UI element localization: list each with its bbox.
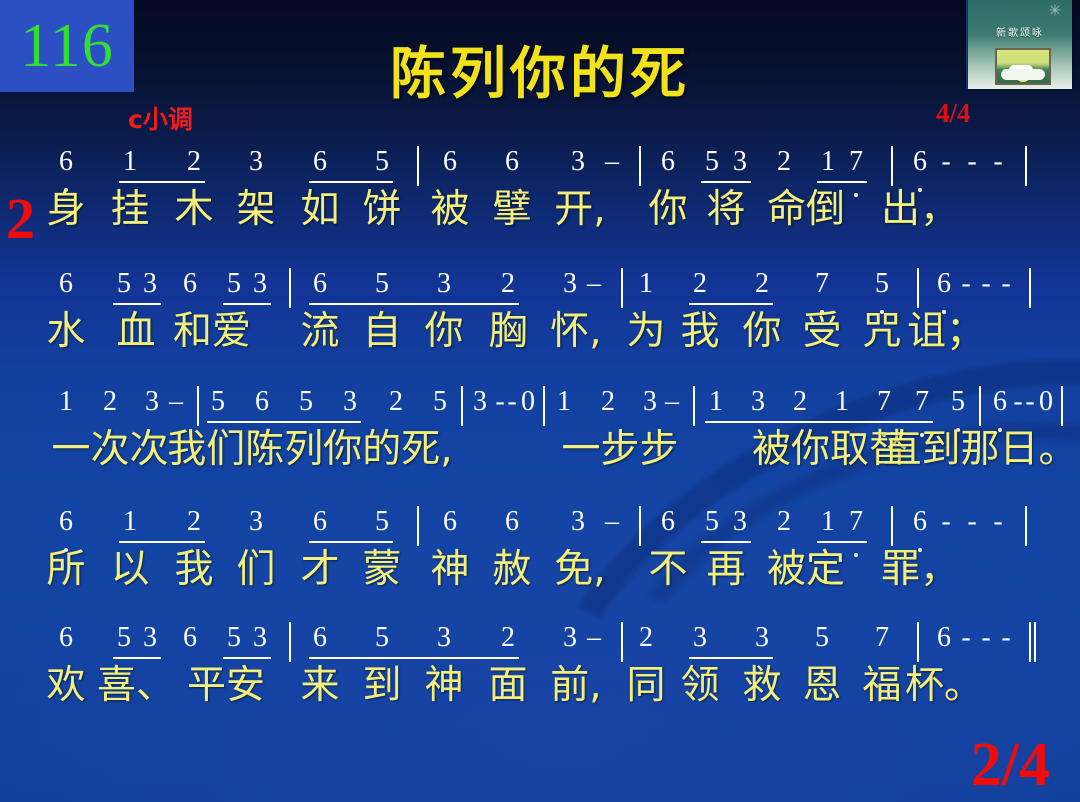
barline (1025, 146, 1027, 186)
lyric-syllable: 神 (430, 550, 469, 589)
note: 1 (557, 388, 571, 416)
lyric-syllable: 怀, (550, 312, 601, 351)
note: 6 (313, 624, 327, 652)
note: 6 (59, 148, 73, 176)
lyric-syllable: 将 (706, 190, 745, 229)
lyric-syllable: 咒 (862, 312, 901, 351)
note: 3 (571, 508, 585, 536)
note: – (587, 624, 601, 652)
lyric-syllable: 再 (706, 550, 745, 589)
note: 3 (563, 624, 577, 652)
note: - (495, 388, 504, 416)
lyric-syllable: 才 (300, 550, 339, 589)
note: 6 (443, 148, 457, 176)
note: 3 (145, 388, 159, 416)
beam-line (689, 303, 773, 305)
note: 2 (601, 388, 615, 416)
lyric-syllable: 自 (362, 312, 401, 351)
lyric-syllable: 神 (424, 666, 463, 705)
barline (891, 506, 893, 546)
note: 1 (59, 388, 73, 416)
beam-line (309, 181, 393, 183)
note: 1 (123, 148, 137, 176)
lyric-syllable: 一步步 (561, 430, 678, 469)
barline (1025, 506, 1027, 546)
beam-line (309, 541, 393, 543)
note: 5 (705, 148, 719, 176)
note: 2 (103, 388, 117, 416)
note: 6 (59, 508, 73, 536)
note: 5 (375, 270, 389, 298)
beam-line (309, 303, 519, 305)
lyric-syllable: 救 (742, 666, 781, 705)
note: 6 (183, 270, 197, 298)
note: - (961, 270, 970, 298)
note: - (507, 388, 516, 416)
note: 5 (299, 388, 313, 416)
lyric-syllable: 血 (116, 312, 155, 351)
hymnbook-cover-thumbnail: 新歌颂咏 (966, 0, 1072, 89)
lyric-syllable: 为 (626, 312, 665, 351)
beam-line (689, 657, 773, 659)
barline (417, 146, 419, 186)
barline (917, 622, 919, 662)
note: 3 (253, 624, 267, 652)
note: - (967, 148, 976, 176)
note: 1 (835, 388, 849, 416)
note: - (961, 624, 970, 652)
sunrise-illustration (995, 48, 1051, 85)
note: 2 (501, 270, 515, 298)
note: 3 (437, 624, 451, 652)
note: 2 (187, 508, 201, 536)
note: 5 (117, 624, 131, 652)
beam-line (223, 657, 271, 659)
note: 5 (433, 388, 447, 416)
note: 6 (255, 388, 269, 416)
note: - (981, 624, 990, 652)
lyric-syllable: 以 (110, 550, 149, 589)
note: - (993, 508, 1002, 536)
note: - (1013, 388, 1022, 416)
barline (543, 386, 545, 426)
note: 6 (59, 624, 73, 652)
note: – (665, 388, 679, 416)
lyric-syllable: 诅； (907, 312, 985, 351)
note: 3 (473, 388, 487, 416)
note: 1 (709, 388, 723, 416)
note: 5 (211, 388, 225, 416)
note: 6 (313, 508, 327, 536)
lyric-syllable: 饼 (362, 190, 401, 229)
note: 5 (227, 624, 241, 652)
note: 5 (375, 148, 389, 176)
barline (891, 146, 893, 186)
beam-line (119, 181, 205, 183)
lyric-syllable: 流 (300, 312, 339, 351)
notation-row: 612365663–6532176--- (0, 508, 1080, 550)
lyric-syllable: 架 (236, 190, 275, 229)
score-system: 65365365323–233576---欢喜、平安来到神面前,同领救恩福杯。 (0, 624, 1080, 666)
lyric-syllable: 们 (236, 550, 275, 589)
lyric-syllable: 和爱 (173, 312, 251, 351)
note: 6 (937, 624, 951, 652)
snowflake-icon (1048, 3, 1062, 17)
notation-row: 123–5653253--0123–13217756--0 (0, 388, 1080, 430)
note: - (941, 508, 950, 536)
note: 7 (875, 624, 889, 652)
note: 2 (793, 388, 807, 416)
note: 6 (661, 508, 675, 536)
octave-dot-low (854, 553, 858, 557)
lyric-syllable: 平安 (187, 666, 265, 705)
note: - (1001, 624, 1010, 652)
note: 7 (815, 270, 829, 298)
note: 5 (815, 624, 829, 652)
lyric-syllable: 赦 (492, 550, 531, 589)
verse-number-marker: 2 (6, 190, 35, 248)
note: 3 (143, 624, 157, 652)
barline (693, 386, 695, 426)
lyric-syllable: 同 (626, 666, 665, 705)
lyric-syllable: 我 (680, 312, 719, 351)
note: 5 (705, 508, 719, 536)
octave-dot-low (854, 193, 858, 197)
lyric-syllable: 所 (46, 550, 85, 589)
note: 3 (249, 148, 263, 176)
lyric-syllable: 面 (488, 666, 527, 705)
lyric-syllable: 不 (648, 550, 687, 589)
beam-line (119, 541, 205, 543)
note: 2 (187, 148, 201, 176)
lyric-syllable: 来 (300, 666, 339, 705)
note: 2 (777, 508, 791, 536)
lyric-syllable: 一次次 (51, 430, 168, 469)
note: 5 (117, 270, 131, 298)
barline (639, 146, 641, 186)
lyric-syllable: 罪， (881, 550, 959, 589)
beam-line (309, 657, 519, 659)
note: 6 (913, 508, 927, 536)
lyric-syllable: 受 (802, 312, 841, 351)
barline (917, 268, 919, 308)
lyric-syllable: 免, (554, 550, 605, 589)
note: 3 (143, 270, 157, 298)
note: 3 (253, 270, 267, 298)
beam-line (701, 181, 751, 183)
lyric-syllable: 被定 (767, 550, 845, 589)
note: – (605, 508, 619, 536)
key-signature-label: c小调 (128, 100, 193, 136)
note: 3 (343, 388, 357, 416)
note: - (1025, 388, 1034, 416)
note: 2 (777, 148, 791, 176)
lyric-syllable: 我们陈列你的死, (167, 430, 452, 469)
page-indicator: 2/4 (971, 734, 1050, 796)
lyric-syllable: 被 (430, 190, 469, 229)
lyric-syllable: 前, (550, 666, 601, 705)
note: 7 (877, 388, 891, 416)
beam-line (113, 303, 161, 305)
note: - (1001, 270, 1010, 298)
note: 6 (505, 148, 519, 176)
note: 3 (733, 148, 747, 176)
lyric-syllable: 你 (424, 312, 463, 351)
notation-row: 65365365323–233576--- (0, 624, 1080, 666)
barline (621, 268, 623, 308)
score-system: 612365663–6532176---身挂木架如饼被擘开,你将命倒出， (0, 148, 1080, 190)
note: 3 (571, 148, 585, 176)
note: 2 (693, 270, 707, 298)
note: 6 (59, 270, 73, 298)
note: 2 (501, 624, 515, 652)
note: 1 (821, 508, 835, 536)
note: 3 (249, 508, 263, 536)
lyric-syllable: 领 (680, 666, 719, 705)
beam-line (817, 181, 867, 183)
notation-row: 65365365323–122756--- (0, 270, 1080, 312)
note: 1 (639, 270, 653, 298)
lyric-syllable: 欢 (46, 666, 85, 705)
note: - (981, 270, 990, 298)
note: 6 (313, 270, 327, 298)
barline (1061, 386, 1063, 426)
beam-line (113, 657, 161, 659)
score-system: 123–5653253--0123–13217756--0一次次我们陈列你的死,… (0, 388, 1080, 430)
note: – (169, 388, 183, 416)
note: 7 (915, 388, 929, 416)
lyric-syllable: 水 (46, 312, 85, 351)
note: 1 (123, 508, 137, 536)
lyric-syllable: 恩 (802, 666, 841, 705)
barline (417, 506, 419, 546)
lyric-syllable: 胸 (488, 312, 527, 351)
note: - (967, 508, 976, 536)
lyric-syllable: 杯。 (905, 666, 983, 705)
barline (197, 386, 199, 426)
note: 3 (755, 624, 769, 652)
barline (1029, 268, 1031, 308)
barline (621, 622, 623, 662)
lyric-syllable: 如 (300, 190, 339, 229)
cloud-icon-front (1001, 69, 1045, 80)
lyric-syllable: 挂 (110, 190, 149, 229)
note: 7 (849, 148, 863, 176)
beam-line (705, 421, 933, 423)
barline (639, 506, 641, 546)
note: 6 (313, 148, 327, 176)
note: 6 (993, 388, 1007, 416)
note: – (605, 148, 619, 176)
time-signature-label: 4/4 (936, 98, 971, 129)
barline (461, 386, 463, 426)
note: 6 (505, 508, 519, 536)
note: 5 (875, 270, 889, 298)
beam-line (207, 421, 361, 423)
beam-line (817, 541, 867, 543)
note: 0 (521, 388, 535, 416)
notation-row: 612365663–6532176--- (0, 148, 1080, 190)
note: - (941, 148, 950, 176)
lyric-syllable: 直到那日。 (882, 430, 1077, 469)
lyric-syllable: 到 (362, 666, 401, 705)
note: - (993, 148, 1002, 176)
lyric-syllable: 福 (862, 666, 901, 705)
note: 6 (661, 148, 675, 176)
note: 6 (913, 148, 927, 176)
score-system: 612365663–6532176---所以我们才蒙神赦免,不再被定罪， (0, 508, 1080, 550)
note: 3 (643, 388, 657, 416)
lyric-syllable: 出， (881, 190, 959, 229)
note: – (587, 270, 601, 298)
hymnbook-cover-title: 新歌颂咏 (968, 24, 1072, 39)
hymn-slide: 116 陈列你的死 c小调 4/4 新歌颂咏 2 612365663–65321… (0, 0, 1080, 802)
beam-line (701, 541, 751, 543)
note: 6 (183, 624, 197, 652)
beam-line (223, 303, 271, 305)
lyric-syllable: 喜、 (97, 666, 175, 705)
note: 6 (937, 270, 951, 298)
note: 3 (733, 508, 747, 536)
barline (979, 386, 981, 426)
lyric-syllable: 擘 (492, 190, 531, 229)
lyric-syllable: 身 (46, 190, 85, 229)
note: 1 (821, 148, 835, 176)
score-system: 65365365323–122756---水血和爱流自你胸怀,为我你受咒诅； (0, 270, 1080, 312)
note: 5 (951, 388, 965, 416)
lyric-syllable: 你 (742, 312, 781, 351)
note: 6 (443, 508, 457, 536)
note: 2 (755, 270, 769, 298)
note: 5 (375, 624, 389, 652)
note: 7 (849, 508, 863, 536)
note: 3 (751, 388, 765, 416)
barline (289, 622, 291, 662)
note: 3 (693, 624, 707, 652)
final-barline (1029, 622, 1031, 662)
note: 3 (437, 270, 451, 298)
note: 2 (389, 388, 403, 416)
barline (289, 268, 291, 308)
lyric-syllable: 我 (174, 550, 213, 589)
note: 3 (563, 270, 577, 298)
note: 0 (1039, 388, 1053, 416)
lyric-syllable: 蒙 (362, 550, 401, 589)
lyric-syllable: 命倒 (767, 190, 845, 229)
note: 2 (639, 624, 653, 652)
lyric-syllable: 你 (648, 190, 687, 229)
page-title: 陈列你的死 (0, 47, 1080, 103)
lyric-syllable: 开, (554, 190, 605, 229)
lyric-syllable: 木 (174, 190, 213, 229)
note: 5 (375, 508, 389, 536)
note: 5 (227, 270, 241, 298)
